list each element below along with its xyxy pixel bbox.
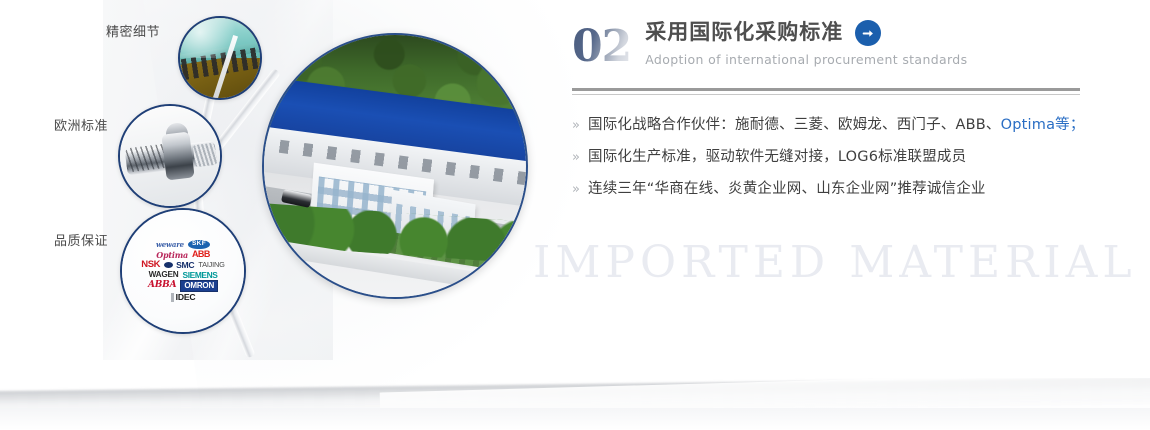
brand-logo-weware: weware [156,241,184,248]
gear-detail-lens [178,16,262,100]
left-visual-panel: wewareSKFOptimaABBNSKSMCTAIJINGWAGENSIEM… [0,0,560,380]
bullet-item: »连续三年“华商在线、炎黄企业网、山东企业网”推荐诚信企业 [572,180,1112,199]
bottom-shadow-swoosh [0,378,1150,430]
brand-logo-smc: SMC [176,261,194,270]
brand-logo-row: NSKSMCTAIJING [126,260,240,270]
brand-logo-row: WAGENSIEMENS [126,271,240,279]
shadow-fade [0,408,1150,430]
page-title: 采用国际化采购标准 [645,20,843,45]
section-title-row: 采用国际化采购标准 [645,20,967,46]
header-divider [572,88,1080,95]
bullet-text-lead: 国际化生产标准，驱动软件无缝对接，LOG6标准联盟成员 [588,149,966,165]
label-quality-assurance: 品质保证 [54,230,108,249]
divider-thick-line [572,88,1080,91]
brand-logo-wagen: WAGEN [149,271,179,279]
bullet-text: 连续三年“华商在线、炎黄企业网、山东企业网”推荐诚信企业 [588,180,986,199]
bullet-chevron-icon: » [572,148,588,167]
brand-logo-row: OptimaABB [126,250,240,259]
brand-logo-abb: ABB [192,250,210,259]
brand-logos-lens: wewareSKFOptimaABBNSKSMCTAIJINGWAGENSIEM… [120,208,246,334]
brand-logo-abba: ABBA [148,281,176,290]
bullet-list: »国际化战略合作伙伴：施耐德、三菱、欧姆龙、西门子、ABB、Optima等；»国… [572,116,1112,199]
brand-logo-row: ABBAOMRON [126,280,240,292]
brand-logo-optima: Optima [156,251,188,259]
bullet-item: »国际化战略合作伙伴：施耐德、三菱、欧姆龙、西门子、ABB、Optima等； [572,116,1112,135]
smc-mark-icon [164,262,173,268]
section-header: 02 采用国际化采购标准 Adoption of international p… [572,20,1112,82]
imported-material-watermark: IMPORTED MATERIAL [533,237,1137,288]
brand-logo-row: IDEC [126,293,240,302]
label-precision-detail: 精密细节 [106,21,160,40]
bullet-text: 国际化生产标准，驱动软件无缝对接，LOG6标准联盟成员 [588,148,966,167]
bullet-chevron-icon: » [572,180,588,199]
brand-logo-idec: IDEC [171,293,196,302]
factory-photo-lens [262,33,528,299]
bullet-chevron-icon: » [572,116,588,135]
brand-logo-grid: wewareSKFOptimaABBNSKSMCTAIJINGWAGENSIEM… [122,210,244,332]
brand-logo-taijing: TAIJING [198,261,224,268]
brand-logo-row: wewareSKF [126,240,240,249]
screw-nut [161,131,194,180]
brand-logo-siemens: SIEMENS [183,271,218,279]
section-subtitle: Adoption of international procurement st… [645,52,967,67]
arrow-right-circle-icon[interactable] [855,20,881,46]
divider-thin-line [572,94,1080,95]
bullet-text-highlight: Optima等； [1001,117,1085,133]
screw-end-thread [193,143,218,168]
brand-logo-omron: OMRON [180,280,218,292]
right-content-panel: 02 采用国际化采购标准 Adoption of international p… [572,20,1112,212]
section-header-text: 采用国际化采购标准 Adoption of international proc… [645,20,967,67]
ball-screw-lens [118,104,222,208]
lens-gloss [178,16,236,58]
brand-logo-skf: SKF [188,240,210,249]
label-european-standard: 欧洲标准 [54,115,108,134]
promo-section-root: wewareSKFOptimaABBNSKSMCTAIJINGWAGENSIEM… [0,0,1150,430]
brand-logo-nsk: NSK [141,260,160,270]
section-number: 02 [572,25,631,69]
bullet-text-lead: 连续三年“华商在线、炎黄企业网、山东企业网”推荐诚信企业 [588,181,986,197]
bullet-text-lead: 国际化战略合作伙伴：施耐德、三菱、欧姆龙、西门子、ABB、 [588,117,1001,133]
bullet-item: »国际化生产标准，驱动软件无缝对接，LOG6标准联盟成员 [572,148,1112,167]
bullet-text: 国际化战略合作伙伴：施耐德、三菱、欧姆龙、西门子、ABB、Optima等； [588,116,1085,135]
